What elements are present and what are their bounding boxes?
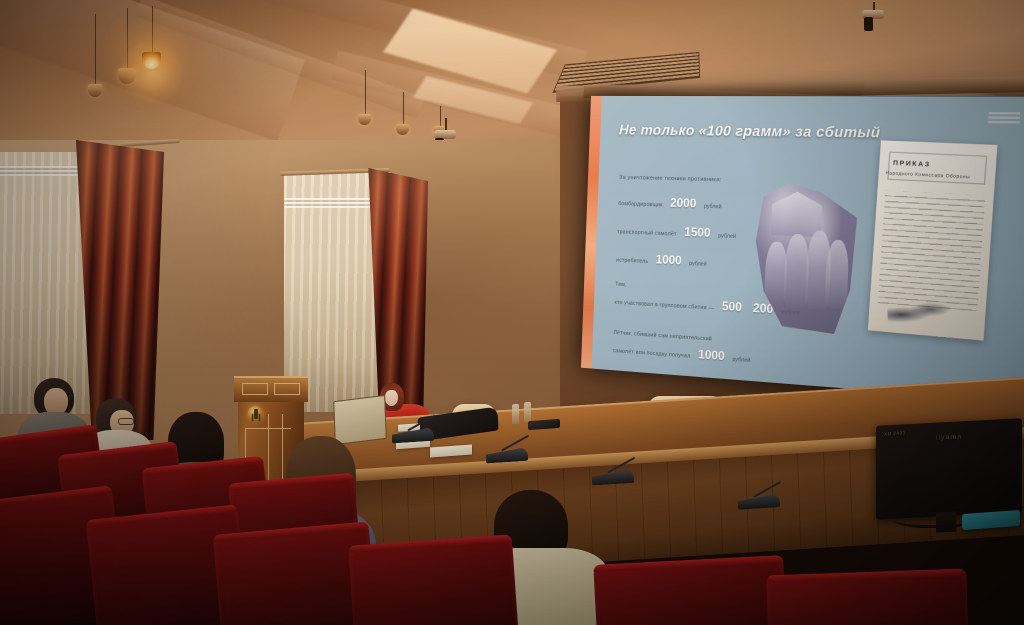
slide-historic-document: ПРИКАЗ Народного Комиссара Обороны xyxy=(868,140,998,340)
lectern-emblem-icon xyxy=(248,406,263,421)
projection-screen: Не только «100 грамм» за сбитый За уничт… xyxy=(581,96,1024,404)
computer-monitor[interactable]: XU 2493 iiyama xyxy=(876,418,1022,520)
pendant-lamp xyxy=(88,14,102,100)
slide-footer-block: Лётчик, сбивший сам неприятельский самол… xyxy=(613,329,832,373)
auditorium-seat[interactable] xyxy=(593,555,788,625)
monitor-brand-label: iiyama xyxy=(936,433,962,441)
slide-secondary-line: кто участвовал в групповом сбитии — xyxy=(614,300,714,312)
slide-footer-value: 1000 xyxy=(698,349,725,363)
lectern-inlay xyxy=(274,383,300,395)
pendant-lamp-lit xyxy=(142,6,161,86)
document-body-lines xyxy=(878,191,986,312)
slide-price-label: бомбардировщик xyxy=(618,201,663,208)
monitor-cable xyxy=(894,508,972,528)
gooseneck-microphone[interactable] xyxy=(738,480,794,510)
photo-building xyxy=(771,191,823,237)
lectern-inlay xyxy=(242,383,268,395)
slide-price-unit: рублей xyxy=(718,233,736,240)
presenter-face xyxy=(385,390,398,406)
laptop[interactable] xyxy=(333,395,387,445)
slide-price-value: 1500 xyxy=(684,227,711,240)
camera-icon xyxy=(860,2,886,32)
document-header-box xyxy=(887,152,987,185)
slide-title: Не только «100 грамм» за сбитый xyxy=(619,122,881,141)
slide-price-unit: рублей xyxy=(689,261,707,268)
auditorium-seat[interactable] xyxy=(766,569,970,625)
lectern-inlay xyxy=(245,428,291,429)
slide-secondary-value-2: 200 xyxy=(753,302,774,316)
auditorium-seat[interactable] xyxy=(348,534,520,625)
document-signature xyxy=(887,299,957,324)
slide-price-value: 1000 xyxy=(656,254,682,267)
eyeglasses-icon xyxy=(118,418,134,425)
photo-figure xyxy=(825,239,850,309)
slide-secondary-value-1: 500 xyxy=(722,301,743,315)
conference-hall-photo: Не только «100 грамм» за сбитый За уничт… xyxy=(0,0,1024,625)
pendant-lamp xyxy=(358,70,371,140)
presentation-slide: Не только «100 грамм» за сбитый За уничт… xyxy=(581,96,1024,404)
slide-price-unit: рублей xyxy=(704,204,722,211)
gooseneck-microphone[interactable] xyxy=(592,458,640,485)
organization-logo xyxy=(988,105,1024,128)
gooseneck-microphone[interactable] xyxy=(392,419,438,444)
slide-footer-unit: рублей xyxy=(732,356,750,364)
slide-price-label: транспортный самолёт xyxy=(617,229,677,237)
water-bottle xyxy=(512,404,519,424)
slide-footer-line-2: самолёт или посадку получал xyxy=(613,348,691,360)
slide-price-label: истребитель xyxy=(616,257,648,265)
slide-intro-line: За уничтожение техники противника: xyxy=(619,175,838,187)
water-bottle xyxy=(524,402,531,422)
slide-price-value: 2000 xyxy=(670,197,697,210)
gooseneck-microphone[interactable] xyxy=(486,439,532,464)
